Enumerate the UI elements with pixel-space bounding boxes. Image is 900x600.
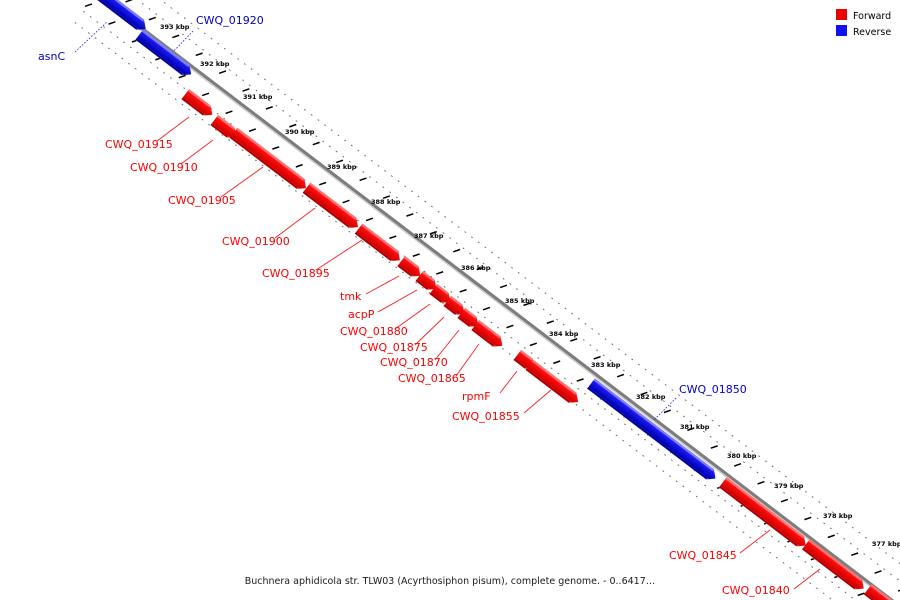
gene-label-CWQ_01895[interactable]: CWQ_01895 xyxy=(262,267,330,280)
gene-bevel-bottom xyxy=(230,137,297,188)
guide-rail-1 xyxy=(109,0,900,585)
gene-arrow-body[interactable] xyxy=(135,30,195,80)
gene-labels[interactable]: asnCCWQ_01920CWQ_01915CWQ_01910CWQ_01905… xyxy=(38,14,790,597)
leader-line-tmk xyxy=(366,276,399,294)
tick-mark xyxy=(406,214,413,216)
axis-tick-label-1: 392 kbp xyxy=(200,60,230,68)
axis-tick-labels: 393 kbp392 kbp391 kbp390 kbp389 kbp388 k… xyxy=(160,23,900,548)
gene-label-CWQ_01845[interactable]: CWQ_01845 xyxy=(669,549,737,562)
axis-tick-label-14: 379 kbp xyxy=(774,482,804,490)
tick-mark xyxy=(500,285,507,287)
tick-mark xyxy=(266,107,273,109)
genome-map-svg[interactable]: 393 kbp392 kbp391 kbp390 kbp389 kbp388 k… xyxy=(0,0,900,600)
gene-arrow-body[interactable] xyxy=(355,224,404,266)
tick-mark xyxy=(460,290,467,292)
leader-line-rpmF xyxy=(500,371,517,393)
tick-mark xyxy=(594,357,601,359)
tick-mark xyxy=(289,125,296,127)
gene-feature-CWQ_01865[interactable] xyxy=(471,320,506,351)
tick-mark xyxy=(711,446,718,448)
tick-mark xyxy=(149,17,156,19)
gene-label-asnC[interactable]: asnC xyxy=(38,50,65,63)
tick-mark xyxy=(828,535,835,537)
axis-tick-label-11: 382 kbp xyxy=(636,393,666,401)
axis-tick-label-12: 381 kbp xyxy=(680,423,710,431)
tick-mark xyxy=(413,254,420,256)
leader-line-CWQ_01905 xyxy=(221,167,263,197)
tick-mark xyxy=(851,553,858,555)
tick-mark xyxy=(243,89,250,91)
gene-label-CWQ_01880[interactable]: CWQ_01880 xyxy=(340,325,408,338)
gene-feature-CWQ_01855[interactable] xyxy=(525,360,582,407)
tick-mark xyxy=(553,361,560,363)
gene-bevel-bottom xyxy=(588,388,707,479)
axis-tick-label-10: 383 kbp xyxy=(591,361,621,369)
gene-label-CWQ_01840[interactable]: CWQ_01840 xyxy=(722,584,790,597)
gene-label-tmk[interactable]: tmk xyxy=(340,290,362,303)
axis-tick-label-0: 393 kbp xyxy=(160,23,190,31)
gene-label-CWQ_01915[interactable]: CWQ_01915 xyxy=(105,138,173,151)
tick-mark xyxy=(125,0,132,2)
gene-feature-CWQ_01905[interactable] xyxy=(230,128,310,194)
axis-tick-label-9: 384 kbp xyxy=(549,330,579,338)
leader-line-CWQ_01845 xyxy=(740,530,770,553)
gene-bevel-top xyxy=(237,129,304,180)
tick-mark xyxy=(781,499,788,501)
axis-tick-label-2: 391 kbp xyxy=(243,93,273,101)
gene-label-CWQ_01905[interactable]: CWQ_01905 xyxy=(168,194,236,207)
gene-label-CWQ_01870[interactable]: CWQ_01870 xyxy=(380,356,448,369)
tick-mark xyxy=(617,374,624,376)
leader-line-CWQ_01895 xyxy=(316,240,362,270)
tick-mark xyxy=(196,53,203,55)
tick-mark xyxy=(202,93,209,95)
tick-mark xyxy=(249,129,256,131)
gene-label-CWQ_01920[interactable]: CWQ_01920 xyxy=(196,14,264,27)
genome-axis xyxy=(96,0,893,600)
tick-mark xyxy=(179,75,186,77)
strand-legend: ForwardReverse xyxy=(836,9,891,38)
gene-feature-CWQ_01920[interactable] xyxy=(135,30,195,80)
legend-label-reverse: Reverse xyxy=(853,27,891,38)
gene-feature-CWQ_01895[interactable] xyxy=(355,224,404,266)
axis-tick-label-5: 388 kbp xyxy=(371,198,401,206)
genome-map-canvas: 393 kbp392 kbp391 kbp390 kbp389 kbp388 k… xyxy=(0,0,900,600)
axis-tick-label-6: 387 kbp xyxy=(414,232,444,240)
leader-line-asnC xyxy=(75,22,107,52)
legend-label-forward: Forward xyxy=(853,11,891,22)
gene-arrow-body[interactable] xyxy=(181,89,216,120)
tick-mark xyxy=(85,4,92,6)
axis-tick-label-7: 386 kbp xyxy=(461,264,491,272)
leader-line-CWQ_01840 xyxy=(794,569,820,589)
gene-feature-CWQ_01835[interactable] xyxy=(864,584,900,600)
leader-line-CWQ_01855 xyxy=(524,390,551,413)
gene-arrow-body[interactable] xyxy=(230,128,310,194)
axis-tick-label-16: 377 kbp xyxy=(872,540,900,548)
leader-line-acpP xyxy=(378,290,417,312)
tick-mark xyxy=(109,22,116,24)
tick-mark xyxy=(226,111,233,113)
tick-mark xyxy=(483,307,490,309)
tick-mark xyxy=(172,35,179,37)
gene-label-rpmF[interactable]: rpmF xyxy=(462,390,491,403)
axis-tick-label-8: 385 kbp xyxy=(505,297,535,305)
gene-label-CWQ_01910[interactable]: CWQ_01910 xyxy=(130,161,198,174)
gene-label-CWQ_01900[interactable]: CWQ_01900 xyxy=(222,235,290,248)
tick-mark xyxy=(758,482,765,484)
tick-mark xyxy=(734,464,741,466)
tick-mark xyxy=(453,249,460,251)
tick-mark xyxy=(547,321,554,323)
tick-mark xyxy=(875,571,882,573)
gene-label-CWQ_01855[interactable]: CWQ_01855 xyxy=(452,410,520,423)
tick-mark xyxy=(296,165,303,167)
tick-mark xyxy=(858,593,865,595)
tick-mark xyxy=(360,178,367,180)
tick-mark xyxy=(507,325,514,327)
gene-features[interactable] xyxy=(78,0,900,600)
map-caption: Buchnera aphidicola str. TLW03 (Acyrthos… xyxy=(245,576,656,587)
gene-arrow-body[interactable] xyxy=(471,320,506,351)
axis-tick-label-15: 378 kbp xyxy=(823,512,853,520)
axis-tick-label-4: 389 kbp xyxy=(327,163,357,171)
legend-swatch-reverse xyxy=(836,25,847,36)
gene-label-acpP[interactable]: acpP xyxy=(348,308,375,321)
tick-mark xyxy=(664,410,671,412)
leader-line-CWQ_01850 xyxy=(654,398,676,420)
tick-mark xyxy=(219,71,226,73)
gene-bevel-bottom xyxy=(720,487,797,546)
axis-tick-label-3: 390 kbp xyxy=(285,128,315,136)
gene-feature-CWQ_01915[interactable] xyxy=(181,89,216,120)
tick-mark xyxy=(804,517,811,519)
leader-line-CWQ_01900 xyxy=(275,208,315,238)
tick-mark xyxy=(530,343,537,345)
tick-mark xyxy=(577,379,584,381)
tick-mark xyxy=(570,339,577,341)
tick-mark xyxy=(436,272,443,274)
axis-tickmarks xyxy=(85,0,900,600)
gene-label-CWQ_01875[interactable]: CWQ_01875 xyxy=(360,341,428,354)
gene-label-CWQ_01865[interactable]: CWQ_01865 xyxy=(398,372,466,385)
axis-tick-label-13: 380 kbp xyxy=(727,452,757,460)
tick-mark xyxy=(366,218,373,220)
tick-mark xyxy=(313,142,320,144)
tick-mark xyxy=(272,147,279,149)
tick-mark xyxy=(389,236,396,238)
gene-arrow-body[interactable] xyxy=(525,360,582,407)
gene-label-CWQ_01850[interactable]: CWQ_01850 xyxy=(679,383,747,396)
legend-swatch-forward xyxy=(836,9,847,20)
tick-mark xyxy=(319,182,326,184)
tick-mark xyxy=(343,200,350,202)
